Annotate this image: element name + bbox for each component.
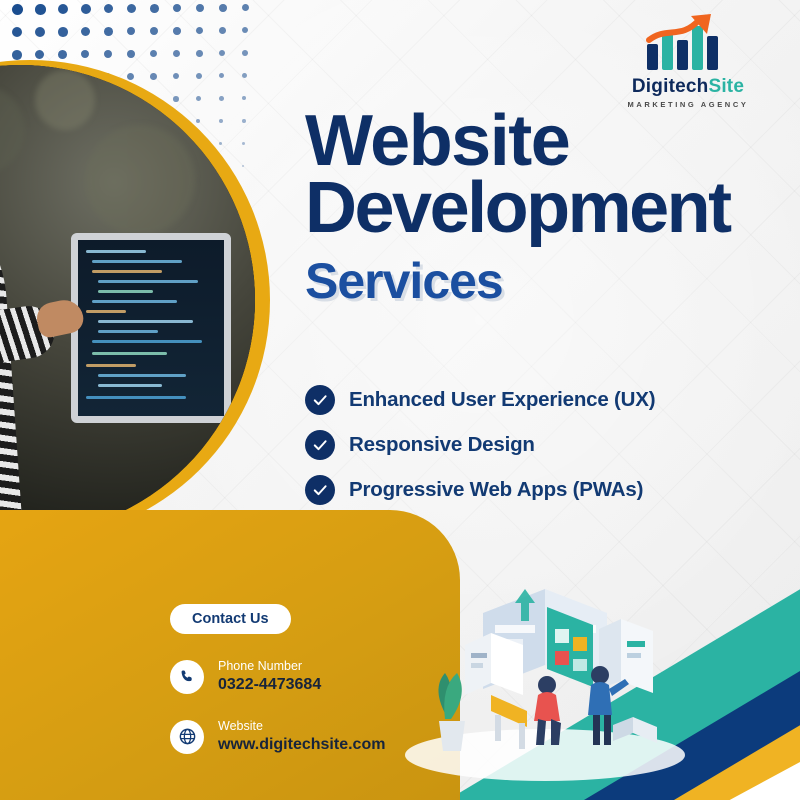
phone-value: 0322-4473684 bbox=[218, 674, 321, 696]
check-circle-icon bbox=[305, 385, 335, 415]
contact-us-badge: Contact Us bbox=[170, 604, 291, 634]
brand-logo: DigitechSite MARKETING AGENCY bbox=[598, 10, 778, 109]
list-item: Enhanced User Experience (UX) bbox=[305, 385, 735, 415]
page-title: Website Development Services bbox=[305, 108, 785, 310]
check-circle-icon bbox=[305, 430, 335, 460]
phone-label: Phone Number bbox=[218, 658, 321, 674]
list-item: Responsive Design bbox=[305, 430, 735, 460]
logo-name-part2: Site bbox=[708, 76, 744, 97]
website-value: www.digitechsite.com bbox=[218, 734, 385, 756]
feature-label-2: Responsive Design bbox=[349, 433, 535, 457]
list-item: Progressive Web Apps (PWAs) bbox=[305, 475, 735, 505]
isometric-illustration bbox=[395, 567, 695, 782]
website-label: Website bbox=[218, 718, 385, 734]
photo-monitor bbox=[71, 233, 231, 423]
globe-icon bbox=[170, 720, 204, 754]
contact-phone-row[interactable]: Phone Number 0322-4473684 bbox=[170, 658, 321, 696]
contact-panel-background bbox=[0, 510, 460, 800]
logo-name-part1: Digitech bbox=[632, 76, 709, 97]
check-circle-icon bbox=[305, 475, 335, 505]
feature-list: Enhanced User Experience (UX) Responsive… bbox=[305, 385, 735, 520]
feature-label-3: Progressive Web Apps (PWAs) bbox=[349, 478, 643, 502]
logo-wordmark: DigitechSite bbox=[598, 76, 778, 98]
poster-canvas: DigitechSite MARKETING AGENCY Website De… bbox=[0, 0, 800, 800]
hero-photo bbox=[0, 65, 255, 535]
bar-chart-arrow-icon bbox=[633, 10, 743, 74]
phone-icon bbox=[170, 660, 204, 694]
headline-subtitle: Services bbox=[305, 252, 785, 310]
headline-line2: Development bbox=[305, 175, 785, 242]
contact-website-row[interactable]: Website www.digitechsite.com bbox=[170, 718, 385, 756]
feature-label-1: Enhanced User Experience (UX) bbox=[349, 388, 655, 412]
